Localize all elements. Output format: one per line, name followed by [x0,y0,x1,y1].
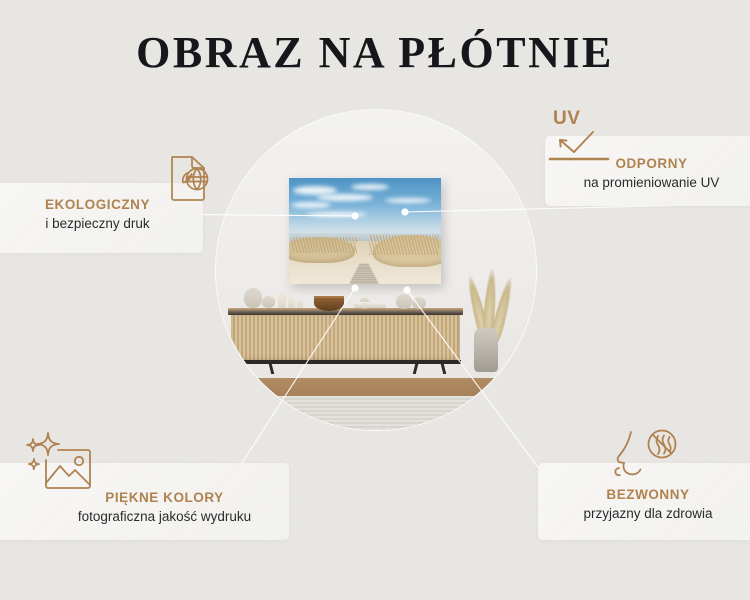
cloud [307,212,367,217]
cloud [291,202,331,208]
rug [216,396,536,430]
concrete-vase [474,328,498,372]
nose-no-odor-icon [605,424,687,499]
decor-round-vase [396,294,412,309]
decor-small-bowl [262,296,275,308]
infographic-root: OBRAZ NA PŁÓTNIE [0,0,750,600]
decor-round-vase [244,288,262,308]
cloud [385,198,431,203]
interior-scene [216,110,536,430]
cloud [317,194,373,201]
artwork-grass [369,235,439,255]
decor-books [354,302,386,308]
decor-round-vase [412,297,426,309]
uv-reflect-icon [545,128,617,177]
feature-eco-subtext: i bezpieczny druk [0,215,203,233]
decor-candle [297,299,303,308]
decor-wooden-bowl [314,296,344,311]
hero-circle-image [216,110,536,430]
artwork-grass [291,237,357,253]
feature-odorless-subtext: przyjazny dla zdrowia [538,505,750,523]
page-title: OBRAZ NA PŁÓTNIE [0,30,750,76]
sideboard-ribbed-front [231,315,460,361]
cloud [351,184,389,190]
decor-candle [278,292,286,308]
decor-candle [288,296,295,308]
canvas-artwork [289,178,441,284]
uv-text-label: UV [553,108,580,130]
sideboard [228,308,463,370]
picture-sparkle-icon [22,428,100,505]
sideboard-base [230,360,461,364]
feature-colors-subtext: fotograficzna jakość wydruku [40,508,289,526]
document-leaf-globe-icon [158,148,220,215]
sideboard-top [228,308,463,315]
